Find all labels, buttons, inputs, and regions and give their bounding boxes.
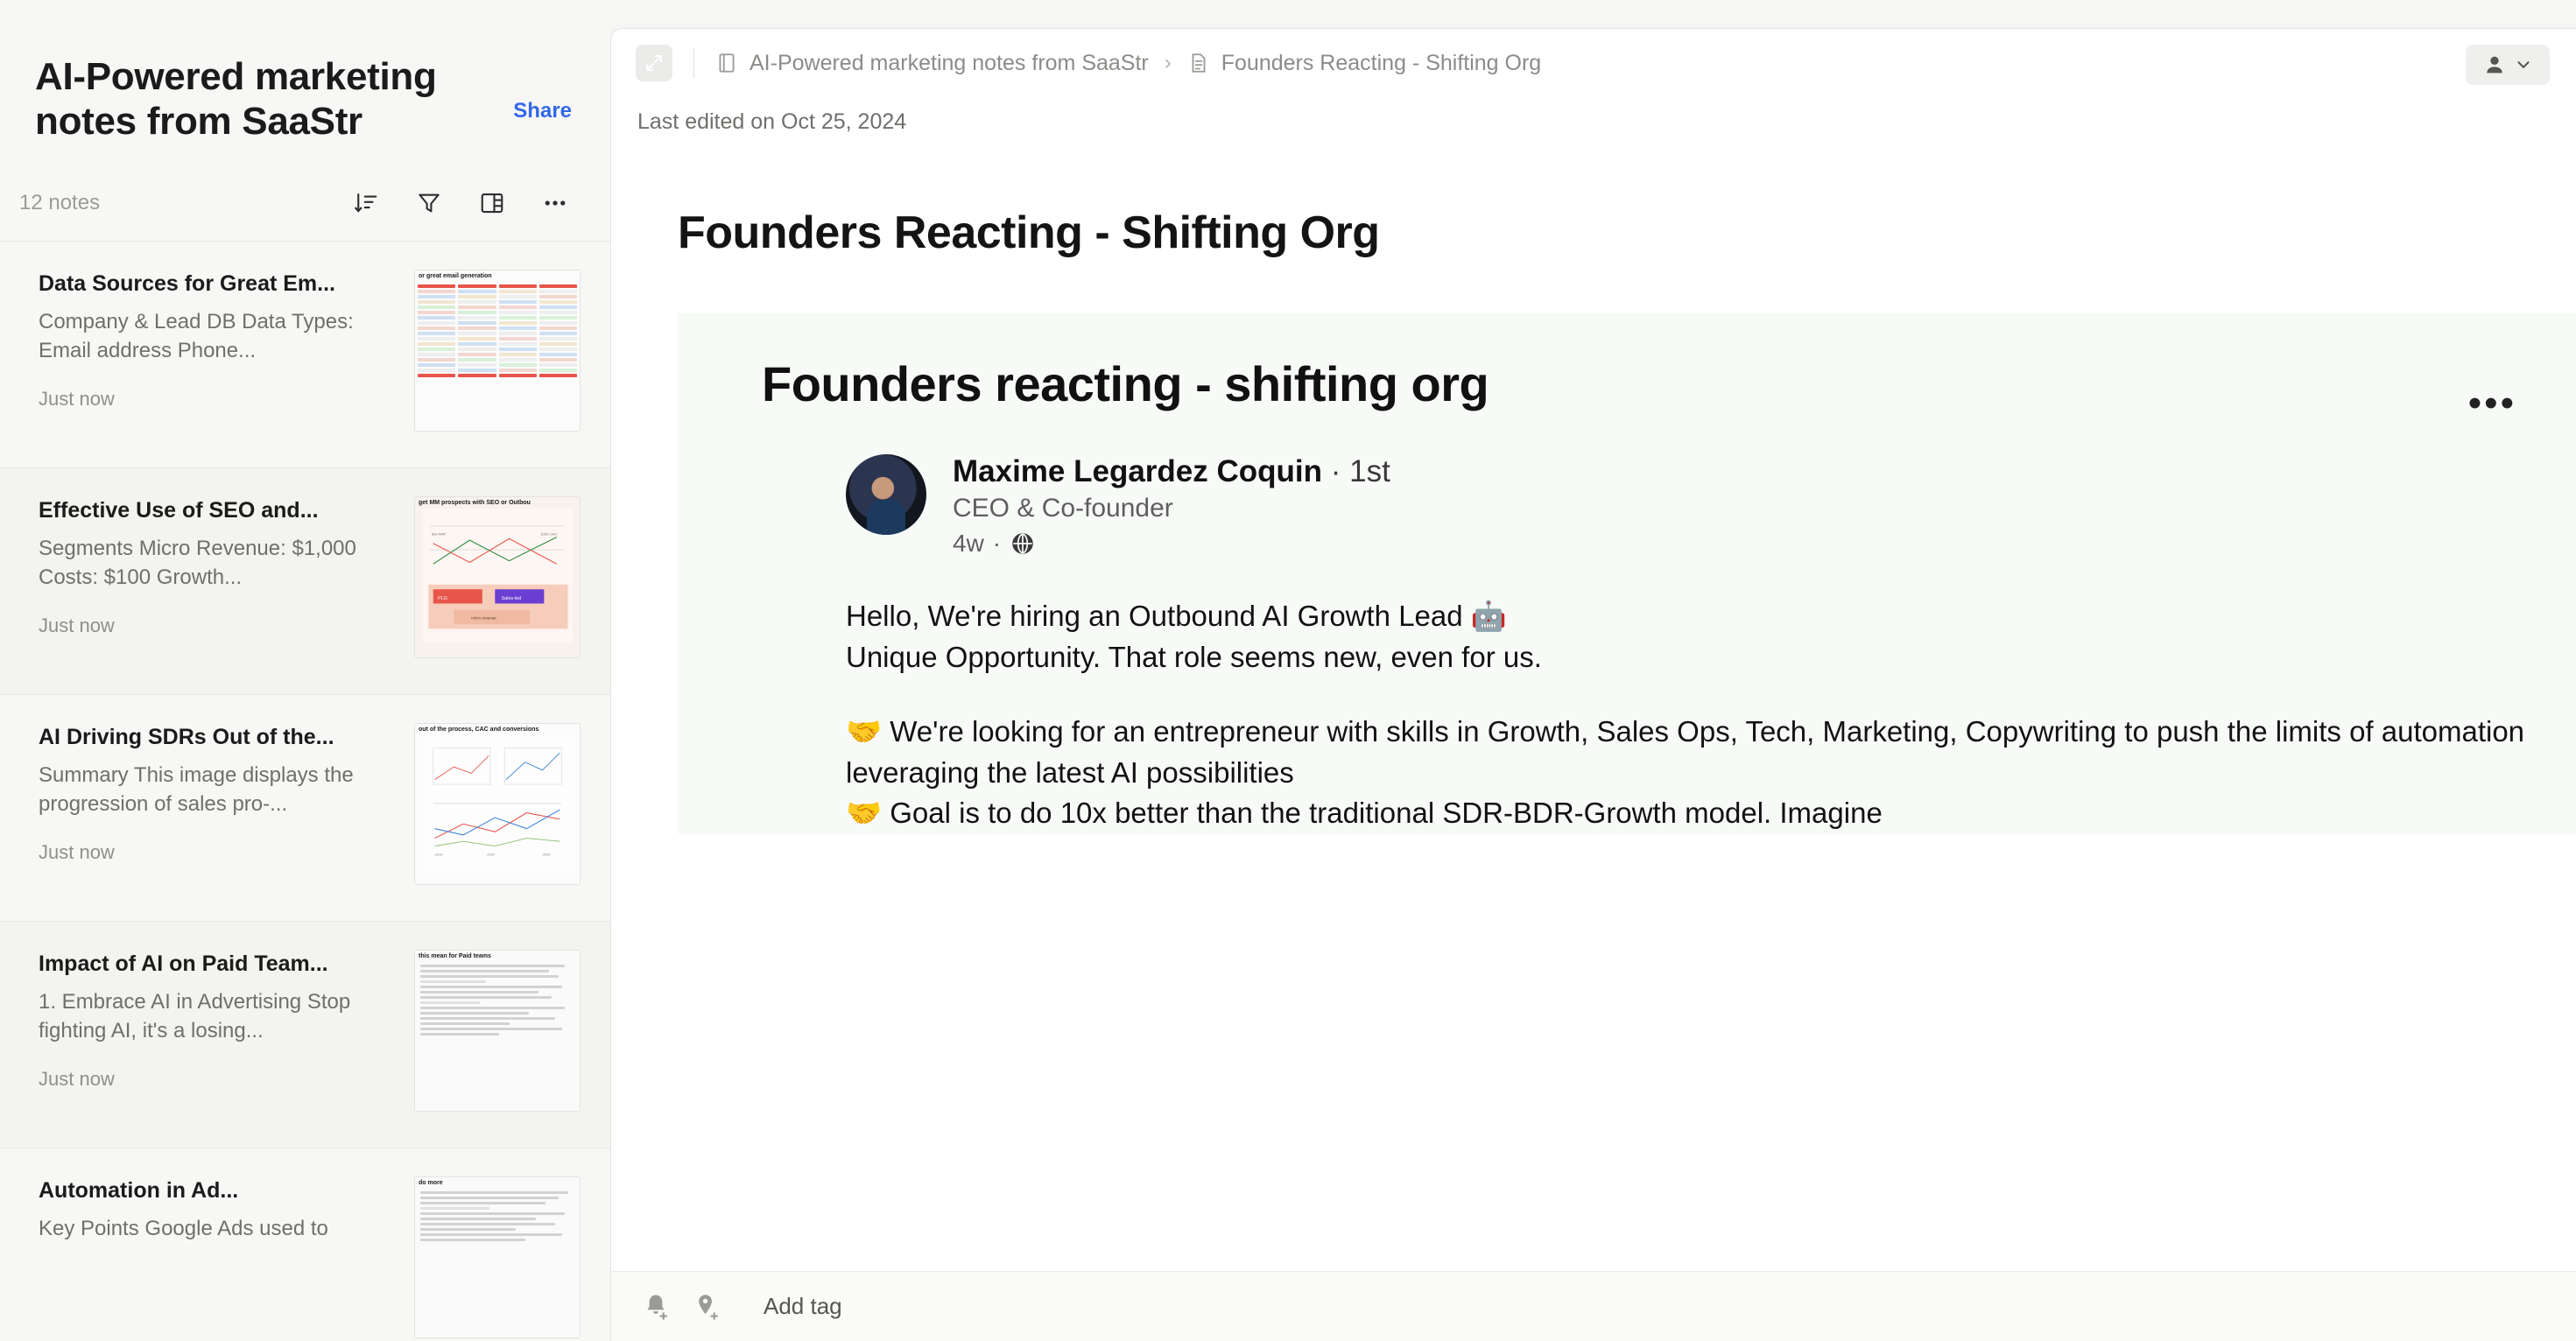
filter-icon[interactable] (416, 190, 442, 216)
post-banner-heading: Founders reacting - shifting org (762, 355, 2530, 412)
note-timestamp: Just now (39, 1068, 361, 1091)
panel-topbar: AI-Powered marketing notes from SaaStr ›… (611, 29, 2576, 97)
note-icon (1187, 52, 1210, 74)
note-title: AI Driving SDRs Out of the... (39, 725, 361, 750)
svg-text:PLG: PLG (438, 596, 447, 601)
thumbnail-label: or great email generation (415, 270, 580, 282)
expand-icon (644, 53, 665, 74)
note-thumbnail: do more (414, 1176, 581, 1338)
document-title: Founders Reacting - Shifting Org (611, 135, 2576, 259)
post-body: Hello, We're hiring an Outbound AI Growt… (846, 596, 2530, 834)
note-preview: Key Points Google Ads used to (39, 1214, 361, 1272)
connection-degree: · 1st (1331, 454, 1390, 488)
note-thumbnail: get MM prospects with SEO or Outbou PL (414, 496, 581, 658)
note-thumbnail: or great email generation (414, 270, 581, 432)
expand-button[interactable] (636, 45, 672, 81)
thumbnail-label: out of the process, CAC and conversions (415, 724, 580, 735)
svg-text:2025: 2025 (543, 852, 552, 856)
note-thumbnail: out of the process, CAC and conversions (414, 723, 581, 885)
note-title: Data Sources for Great Em... (39, 271, 361, 297)
panel-bottombar: Add tag (611, 1271, 2576, 1341)
person-icon (2482, 53, 2507, 77)
thumbnail-label: get MM prospects with SEO or Outbou (415, 497, 580, 509)
user-menu-button[interactable] (2466, 45, 2550, 85)
tag-plus-icon[interactable] (692, 1292, 721, 1322)
post-meta-dot: · (993, 530, 1001, 558)
main-region: AI-Powered marketing notes from SaaStr ›… (610, 0, 2576, 1341)
note-preview: Summary This image displays the progress… (39, 761, 361, 818)
svg-text:micro revenue: micro revenue (471, 615, 496, 620)
sidebar-toolbar: 12 notes (0, 190, 610, 216)
post-line-1: Hello, We're hiring an Outbound AI Growt… (846, 596, 2530, 637)
linkedin-post-card: Founders reacting - shifting org ••• Max… (678, 313, 2576, 834)
bell-plus-icon[interactable] (641, 1292, 671, 1322)
breadcrumb: AI-Powered marketing notes from SaaStr ›… (715, 51, 1541, 76)
layout-icon[interactable] (479, 190, 505, 216)
notes-sidebar: AI-Powered marketing notes from SaaStr S… (0, 0, 610, 1341)
sidebar-header: AI-Powered marketing notes from SaaStr S… (0, 0, 610, 144)
post-author-name: Maxime Legardez Coquin · 1st (953, 454, 1390, 489)
post-header: Maxime Legardez Coquin · 1st CEO & Co-fo… (846, 454, 2530, 558)
breadcrumb-item-note[interactable]: Founders Reacting - Shifting Org (1187, 51, 1541, 76)
note-thumbnail: this mean for Paid teams (414, 950, 581, 1112)
document-scroll-area[interactable]: Founders Reacting - Shifting Org Founder… (611, 135, 2576, 1271)
note-preview: 1. Embrace AI in Advertising Stop fighti… (39, 987, 361, 1045)
note-panel: AI-Powered marketing notes from SaaStr ›… (610, 28, 2576, 1341)
note-timestamp: Just now (39, 388, 361, 411)
breadcrumb-separator: › (1165, 51, 1172, 75)
note-count-label: 12 notes (19, 191, 100, 215)
post-line-3: 🤝 We're looking for an entrepreneur with… (846, 712, 2530, 794)
post-age: 4w (953, 530, 984, 558)
breadcrumb-item-notebook[interactable]: AI-Powered marketing notes from SaaStr (715, 51, 1149, 76)
list-item[interactable]: Automation in Ad... Key Points Google Ad… (0, 1148, 610, 1341)
note-timestamp: Just now (39, 841, 361, 864)
thumbnail-label: do more (415, 1177, 580, 1189)
author-name-text: Maxime Legardez Coquin (953, 454, 1322, 488)
note-preview: Segments Micro Revenue: $1,000 Costs: $1… (39, 534, 361, 592)
list-item[interactable]: Effective Use of SEO and... Segments Mic… (0, 467, 610, 694)
chevron-down-icon (2514, 55, 2533, 74)
post-author-role: CEO & Co-founder (953, 494, 1390, 523)
last-edited-label: Last edited on Oct 25, 2024 (611, 97, 2576, 135)
note-title: Impact of AI on Paid Team... (39, 951, 361, 977)
app-root: AI-Powered marketing notes from SaaStr S… (0, 0, 2576, 1341)
note-list: Data Sources for Great Em... Company & L… (0, 241, 610, 1341)
post-more-icon[interactable]: ••• (2468, 382, 2516, 425)
add-tag-input[interactable]: Add tag (764, 1293, 842, 1320)
svg-text:2019: 2019 (435, 852, 444, 856)
notebook-icon (715, 52, 738, 74)
topbar-divider (693, 48, 694, 78)
sidebar-toolbar-icons (353, 190, 568, 216)
breadcrumb-label: Founders Reacting - Shifting Org (1221, 51, 1541, 76)
svg-text:$1k ARR: $1k ARR (432, 531, 446, 536)
svg-text:2022: 2022 (487, 852, 496, 856)
note-timestamp: Just now (39, 614, 361, 637)
note-preview: Company & Lead DB Data Types: Email addr… (39, 307, 361, 365)
list-item[interactable]: Impact of AI on Paid Team... 1. Embrace … (0, 921, 610, 1148)
svg-text:$100 CAC: $100 CAC (541, 531, 558, 536)
list-item[interactable]: Data Sources for Great Em... Company & L… (0, 241, 610, 467)
share-button[interactable]: Share (513, 99, 572, 123)
page-title: AI-Powered marketing notes from SaaStr (35, 54, 499, 144)
thumbnail-label: this mean for Paid teams (415, 951, 580, 962)
avatar (846, 454, 926, 535)
note-title: Effective Use of SEO and... (39, 498, 361, 523)
note-title: Automation in Ad... (39, 1178, 361, 1204)
post-spacer (846, 678, 2530, 712)
post-line-2: Unique Opportunity. That role seems new,… (846, 637, 2530, 678)
breadcrumb-label: AI-Powered marketing notes from SaaStr (750, 51, 1149, 76)
globe-icon (1010, 530, 1036, 557)
post-meta: 4w · (953, 530, 1390, 558)
post-line-4: 🤝 Goal is to do 10x better than the trad… (846, 793, 2530, 834)
list-item[interactable]: AI Driving SDRs Out of the... Summary Th… (0, 694, 610, 921)
svg-text:Sales-led: Sales-led (502, 596, 522, 601)
sort-icon[interactable] (353, 190, 379, 216)
more-icon[interactable] (542, 190, 568, 216)
